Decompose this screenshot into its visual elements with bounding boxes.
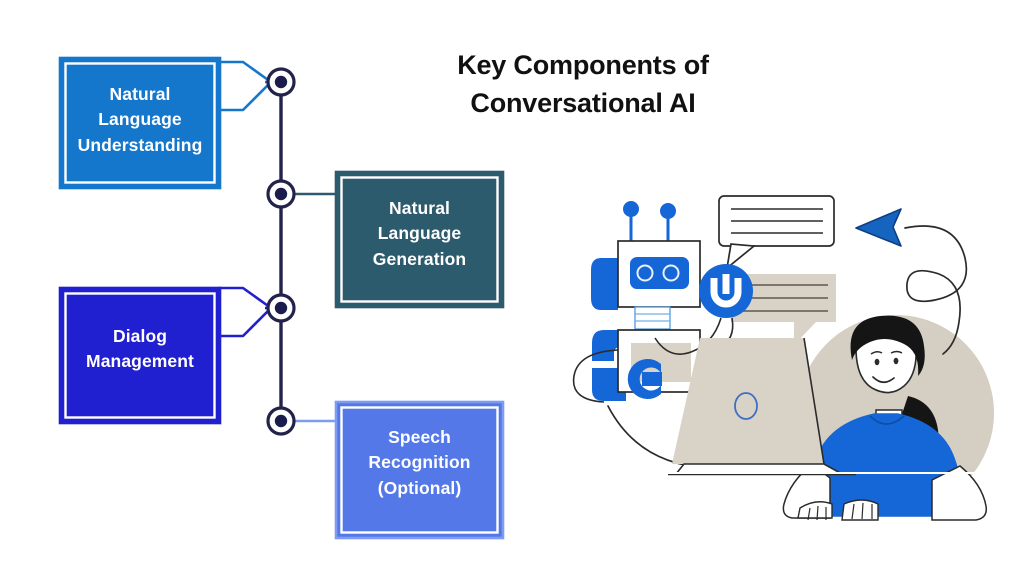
component-box-natural-language-understanding[interactable]	[60, 58, 220, 188]
robot-icon	[574, 201, 700, 402]
component-box-natural-language-generation[interactable]	[336, 172, 503, 307]
timeline-node-1[interactable]	[268, 69, 294, 95]
cursor-arrow-icon	[856, 209, 901, 246]
eye	[894, 358, 899, 364]
timeline-node-2[interactable]	[268, 181, 294, 207]
robot-visor	[630, 257, 689, 289]
chatbot-and-user-illustration	[556, 178, 1024, 550]
timeline-node-4[interactable]	[268, 408, 294, 434]
components-flow-diagram	[0, 0, 560, 576]
speech-bubble-outline	[719, 196, 834, 268]
eye	[875, 359, 880, 365]
desk-line	[556, 472, 1024, 474]
timeline-node-3[interactable]	[268, 295, 294, 321]
component-box-speech-recognition[interactable]	[336, 402, 503, 538]
robot-antenna-left	[623, 201, 639, 217]
robot-neck	[635, 307, 670, 329]
robot-antenna-right	[660, 203, 676, 219]
infographic-canvas: Key Components of Conversational AI	[0, 0, 1024, 576]
component-box-dialog-management[interactable]	[60, 288, 220, 423]
